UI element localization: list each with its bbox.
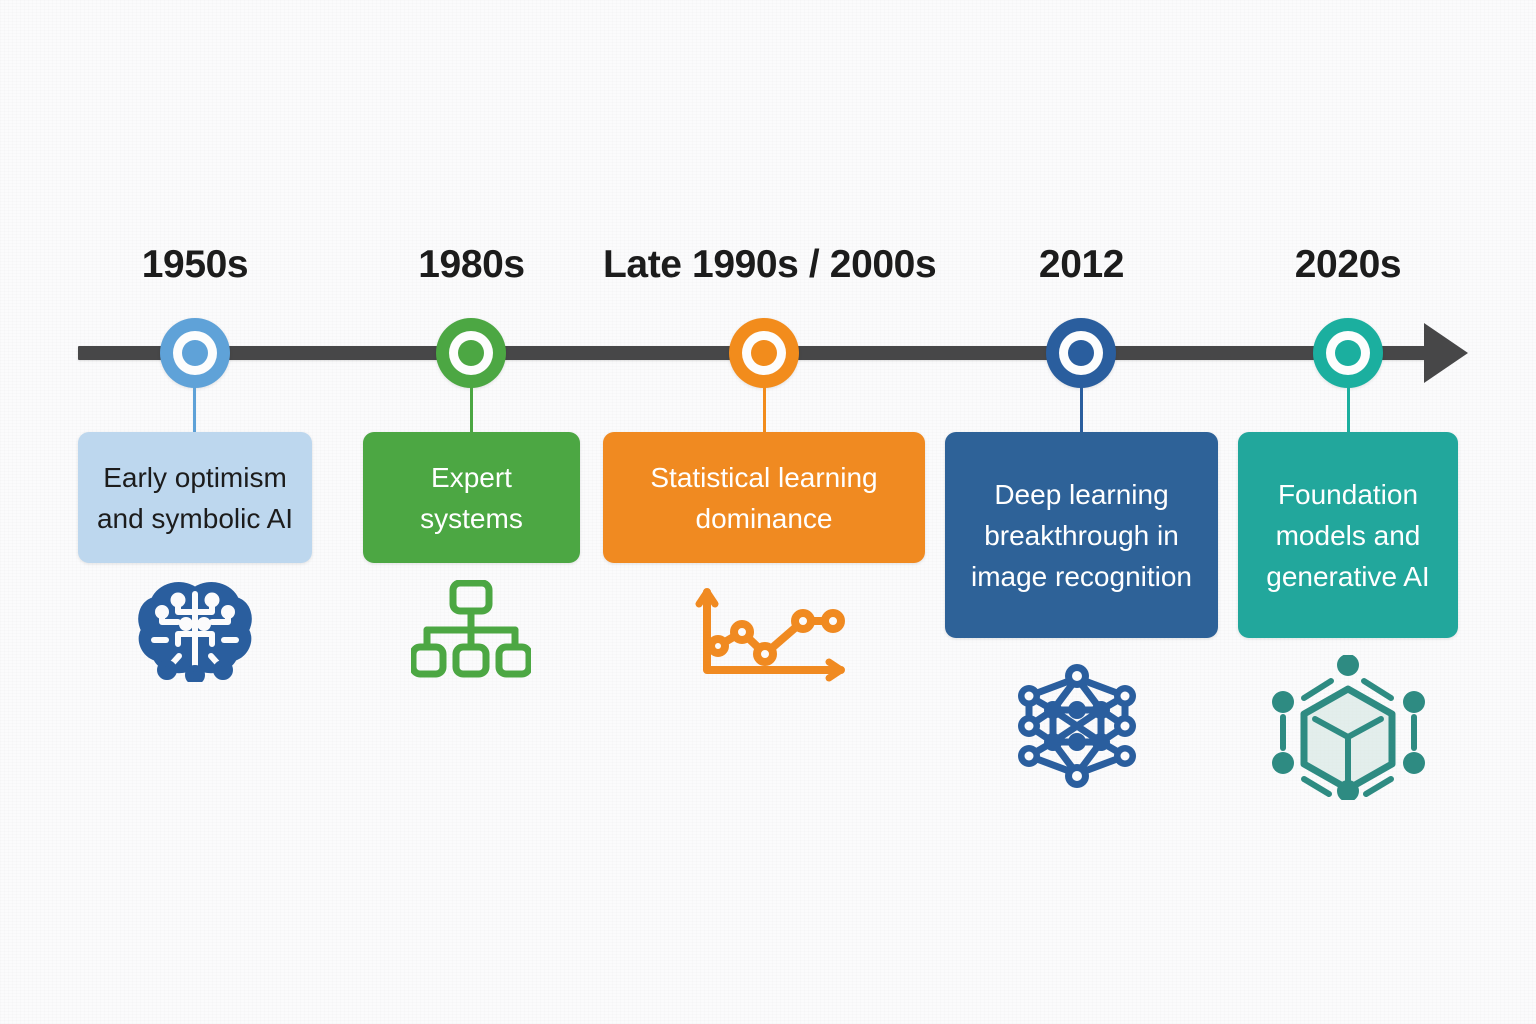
milestone-1980s: 1980s Expert systems bbox=[363, 0, 580, 1024]
milestone-connector bbox=[1080, 386, 1083, 434]
milestone-card[interactable]: Early optimism and symbolic AI bbox=[78, 432, 312, 563]
milestone-marker[interactable] bbox=[1046, 318, 1116, 388]
milestone-year-label: Late 1990s / 2000s bbox=[603, 243, 925, 287]
milestone-marker[interactable] bbox=[1313, 318, 1383, 388]
diagram-canvas: 1950s Early optimism and symbolic AI bbox=[0, 0, 1536, 1024]
milestone-card[interactable]: Statistical learning dominance bbox=[603, 432, 925, 563]
neural-network-icon bbox=[1007, 662, 1147, 790]
milestone-year-label: 1950s bbox=[78, 243, 312, 287]
milestone-connector bbox=[1347, 386, 1350, 434]
milestone-1950s: 1950s Early optimism and symbolic AI bbox=[78, 0, 312, 1024]
milestone-2020s: 2020s Foundation models and generative A… bbox=[1238, 0, 1458, 1024]
milestone-marker[interactable] bbox=[436, 318, 506, 388]
marker-inner-ring bbox=[449, 331, 493, 375]
milestone-year-label: 1980s bbox=[363, 243, 580, 287]
milestone-connector bbox=[470, 386, 473, 434]
marker-core bbox=[751, 340, 777, 366]
marker-inner-ring bbox=[742, 331, 786, 375]
line-chart-icon bbox=[693, 584, 855, 684]
milestone-card[interactable]: Deep learning breakthrough in image reco… bbox=[945, 432, 1218, 638]
hierarchy-tree-icon bbox=[411, 580, 531, 682]
milestone-marker[interactable] bbox=[729, 318, 799, 388]
brain-circuit-icon bbox=[135, 578, 255, 682]
milestone-connector bbox=[193, 386, 196, 434]
milestone-year-label: 2012 bbox=[945, 243, 1218, 287]
marker-inner-ring bbox=[1059, 331, 1103, 375]
milestone-card[interactable]: Foundation models and generative AI bbox=[1238, 432, 1458, 638]
milestone-marker[interactable] bbox=[160, 318, 230, 388]
marker-core bbox=[458, 340, 484, 366]
milestone-late-1990s-2000s: Late 1990s / 2000s Statistical learning … bbox=[603, 0, 925, 1024]
marker-core bbox=[1068, 340, 1094, 366]
milestone-card[interactable]: Expert systems bbox=[363, 432, 580, 563]
marker-inner-ring bbox=[1326, 331, 1370, 375]
marker-inner-ring bbox=[173, 331, 217, 375]
hexagon-cube-icon bbox=[1271, 655, 1425, 800]
milestone-2012: 2012 Deep learning breakthrough in image… bbox=[945, 0, 1218, 1024]
marker-core bbox=[1335, 340, 1361, 366]
milestone-connector bbox=[763, 386, 766, 434]
milestone-year-label: 2020s bbox=[1238, 243, 1458, 287]
marker-core bbox=[182, 340, 208, 366]
